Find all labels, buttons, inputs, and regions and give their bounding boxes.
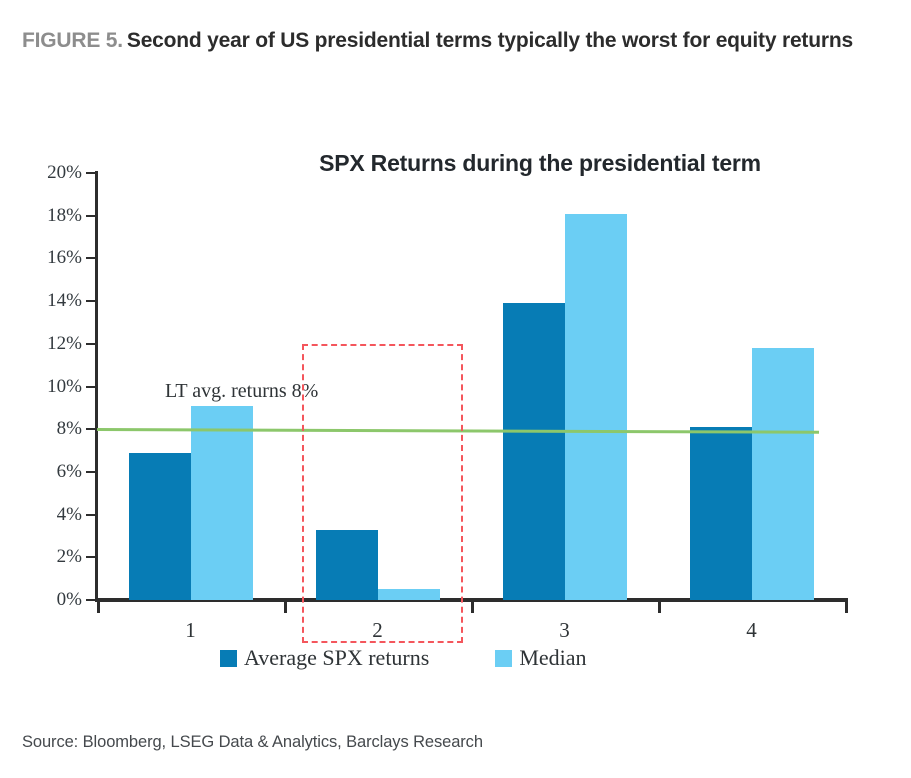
y-axis-tick [86,257,96,259]
y-axis-tick-label: 2% [20,546,82,568]
y-axis-tick [86,471,96,473]
bar-average-year-4 [690,427,752,600]
y-axis-tick-label: 8% [20,418,82,440]
y-axis-tick [86,514,96,516]
bar-average-year-1 [129,453,191,600]
x-axis-tick [97,602,100,613]
y-axis-tick-label: 4% [20,504,82,526]
y-axis-tick-label: 6% [20,461,82,483]
y-axis-tick-label: 16% [20,247,82,269]
bar-average-year-3 [503,303,565,600]
x-axis-tick [471,602,474,613]
y-axis-tick [86,386,96,388]
y-axis-tick-label: 18% [20,205,82,227]
chart-container: SPX Returns during the presidential term… [0,0,911,700]
y-axis-tick-label: 12% [20,333,82,355]
bar-median-year-1 [191,406,253,600]
x-axis-tick [284,602,287,613]
x-axis-tick [658,602,661,613]
y-axis-tick [86,300,96,302]
legend-item-average-spx-returns[interactable]: Average SPX returns [220,645,429,671]
year-2-highlight-box [302,344,463,643]
legend-swatch-icon [495,650,512,667]
x-axis-tick-label: 4 [712,618,792,643]
legend-item-median[interactable]: Median [495,645,586,671]
bar-median-year-4 [752,348,814,600]
legend-label: Median [519,645,586,671]
y-axis-tick [86,556,96,558]
y-axis-tick-label: 0% [20,589,82,611]
y-axis-tick [86,172,96,174]
y-axis-tick [86,215,96,217]
x-axis-tick-label: 3 [525,618,605,643]
y-axis-tick-label: 10% [20,376,82,398]
bar-median-year-3 [565,214,627,600]
y-axis-tick [86,343,96,345]
x-axis-tick-label: 1 [151,618,231,643]
legend-label: Average SPX returns [244,645,429,671]
y-axis-tick [86,428,96,430]
lt-average-label: LT avg. returns 8% [165,380,318,403]
source-note: Source: Bloomberg, LSEG Data & Analytics… [22,733,483,752]
y-axis-tick [86,599,96,601]
x-axis-tick [845,602,848,613]
legend-swatch-icon [220,650,237,667]
y-axis-tick-label: 14% [20,290,82,312]
y-axis-tick-label: 20% [20,162,82,184]
chart-legend: Average SPX returnsMedian [220,645,587,671]
